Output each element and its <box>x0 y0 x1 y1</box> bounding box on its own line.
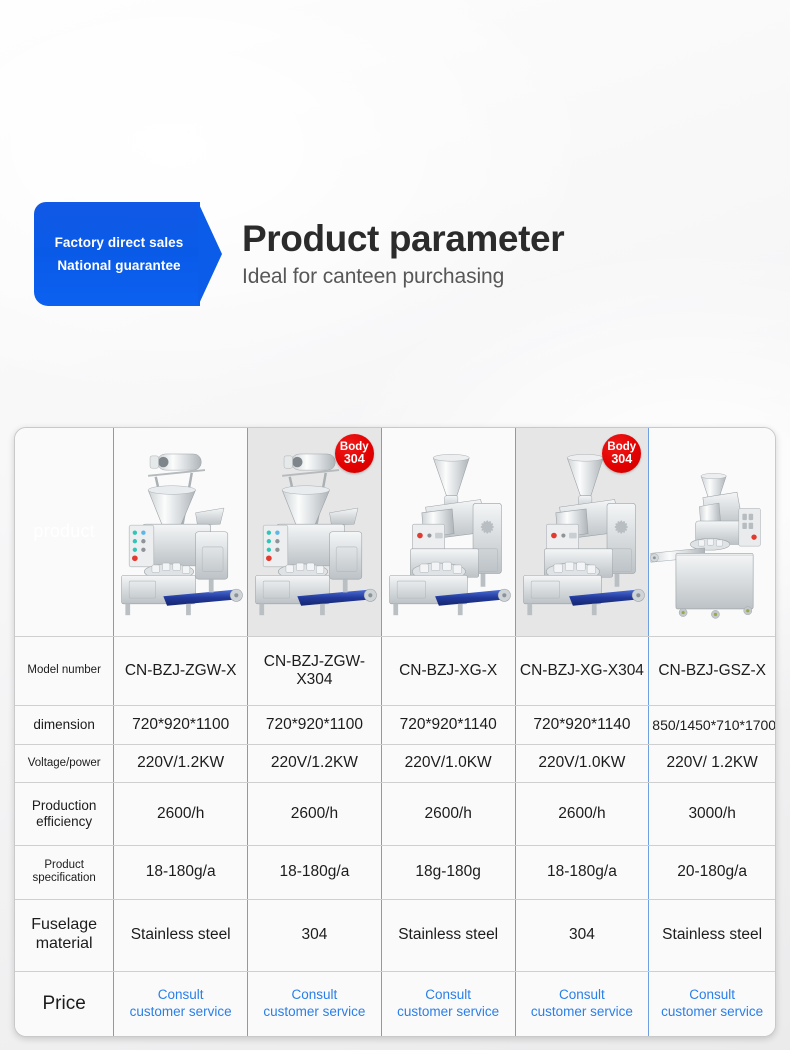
consult-link-5[interactable]: Consult customer service <box>652 987 772 1021</box>
row-label-model-number: Model number <box>15 636 114 705</box>
consult-link-2[interactable]: Consult customer service <box>251 987 378 1021</box>
cell-dimension-1: 720*920*1100 <box>114 705 248 744</box>
cell-price-4[interactable]: Consult customer service <box>515 971 649 1036</box>
consult-line-1: Consult <box>158 987 204 1002</box>
cell-model-4: CN-BZJ-XG-X304 <box>515 636 649 705</box>
cell-efficiency-3: 2600/h <box>381 783 515 845</box>
consult-line-2: customer service <box>661 1004 763 1019</box>
cell-voltage-2: 220V/1.2KW <box>248 744 382 783</box>
cell-efficiency-1: 2600/h <box>114 783 248 845</box>
cell-voltage-5: 220V/ 1.2KW <box>649 744 775 783</box>
cell-efficiency-5: 3000/h <box>649 783 775 845</box>
cell-specification-1: 18-180g/a <box>114 845 248 899</box>
cell-model-3: CN-BZJ-XG-X <box>381 636 515 705</box>
cell-specification-5: 20-180g/a <box>649 845 775 899</box>
ribbon-line-2: National guarantee <box>57 258 180 273</box>
body-304-badge: Body 304 <box>335 434 374 473</box>
cell-material-5: Stainless steel <box>649 899 775 971</box>
table-row-product-images: product <box>15 428 775 636</box>
cell-model-1: CN-BZJ-ZGW-X <box>114 636 248 705</box>
consult-link-4[interactable]: Consult customer service <box>519 987 646 1021</box>
cell-dimension-2: 720*920*1100 <box>248 705 382 744</box>
spec-table: product <box>15 428 775 1036</box>
machine-image-gsz <box>649 428 775 636</box>
ribbon-line-1: Factory direct sales <box>55 235 184 250</box>
row-label-price: Price <box>15 971 114 1036</box>
table-row-price: Price Consult customer service Consult c… <box>15 971 775 1036</box>
consult-line-1: Consult <box>292 987 338 1002</box>
cell-voltage-4: 220V/1.0KW <box>515 744 649 783</box>
product-image-cell-5[interactable] <box>649 428 775 636</box>
consult-line-2: customer service <box>397 1004 499 1019</box>
cell-efficiency-4: 2600/h <box>515 783 649 845</box>
cell-dimension-5: 850/1450*710*1700 <box>649 705 775 744</box>
table-row-voltage: Voltage/power 220V/1.2KW 220V/1.2KW 220V… <box>15 744 775 783</box>
cell-specification-4: 18-180g/a <box>515 845 649 899</box>
table-row-dimension: dimension 720*920*1100 720*920*1100 720*… <box>15 705 775 744</box>
row-label-efficiency: Production efficiency <box>15 783 114 845</box>
table-row-specification: Product specification 18-180g/a 18-180g/… <box>15 845 775 899</box>
cell-specification-3: 18g-180g <box>381 845 515 899</box>
machine-image-zgw-1 <box>114 428 247 636</box>
page-header: Factory direct sales National guarantee … <box>34 202 634 306</box>
cell-model-5: CN-BZJ-GSZ-X <box>649 636 775 705</box>
table-row-material: Fuselage material Stainless steel 304 St… <box>15 899 775 971</box>
product-row-label: product <box>18 521 110 542</box>
consult-line-1: Consult <box>689 987 735 1002</box>
cell-material-2: 304 <box>248 899 382 971</box>
row-label-specification: Product specification <box>15 845 114 899</box>
consult-line-2: customer service <box>263 1004 365 1019</box>
row-label-material: Fuselage material <box>15 899 114 971</box>
cell-material-1: Stainless steel <box>114 899 248 971</box>
consult-link-1[interactable]: Consult customer service <box>117 987 244 1021</box>
machine-image-xg-1 <box>382 428 515 636</box>
cell-price-1[interactable]: Consult customer service <box>114 971 248 1036</box>
product-image-cell-2[interactable]: Body 304 <box>248 428 382 636</box>
cell-voltage-1: 220V/1.2KW <box>114 744 248 783</box>
table-row-efficiency: Production efficiency 2600/h 2600/h 2600… <box>15 783 775 845</box>
cell-price-2[interactable]: Consult customer service <box>248 971 382 1036</box>
cell-price-5[interactable]: Consult customer service <box>649 971 775 1036</box>
table-row-model-number: Model number CN-BZJ-ZGW-X CN-BZJ-ZGW-X30… <box>15 636 775 705</box>
page-title: Product parameter <box>242 219 564 259</box>
cell-model-2: CN-BZJ-ZGW-X304 <box>248 636 382 705</box>
spec-table-container: product <box>14 427 776 1037</box>
cell-efficiency-2: 2600/h <box>248 783 382 845</box>
badge-line-2: 304 <box>344 453 365 466</box>
badge-line-2: 304 <box>611 453 632 466</box>
consult-line-2: customer service <box>531 1004 633 1019</box>
cell-dimension-4: 720*920*1140 <box>515 705 649 744</box>
header-text-block: Product parameter Ideal for canteen purc… <box>200 202 564 306</box>
row-label-dimension: dimension <box>15 705 114 744</box>
consult-line-1: Consult <box>425 987 471 1002</box>
cell-dimension-3: 720*920*1140 <box>381 705 515 744</box>
row-label-voltage: Voltage/power <box>15 744 114 783</box>
consult-line-2: customer service <box>130 1004 232 1019</box>
product-image-cell-1[interactable] <box>114 428 248 636</box>
promo-ribbon: Factory direct sales National guarantee <box>34 202 200 306</box>
product-row-label-cell: product <box>15 428 114 636</box>
product-image-cell-3[interactable] <box>381 428 515 636</box>
cell-price-3[interactable]: Consult customer service <box>381 971 515 1036</box>
cell-voltage-3: 220V/1.0KW <box>381 744 515 783</box>
consult-link-3[interactable]: Consult customer service <box>385 987 512 1021</box>
cell-material-3: Stainless steel <box>381 899 515 971</box>
page-subtitle: Ideal for canteen purchasing <box>242 265 564 289</box>
cell-specification-2: 18-180g/a <box>248 845 382 899</box>
consult-line-1: Consult <box>559 987 605 1002</box>
cell-material-4: 304 <box>515 899 649 971</box>
product-image-cell-4[interactable]: Body 304 <box>515 428 649 636</box>
